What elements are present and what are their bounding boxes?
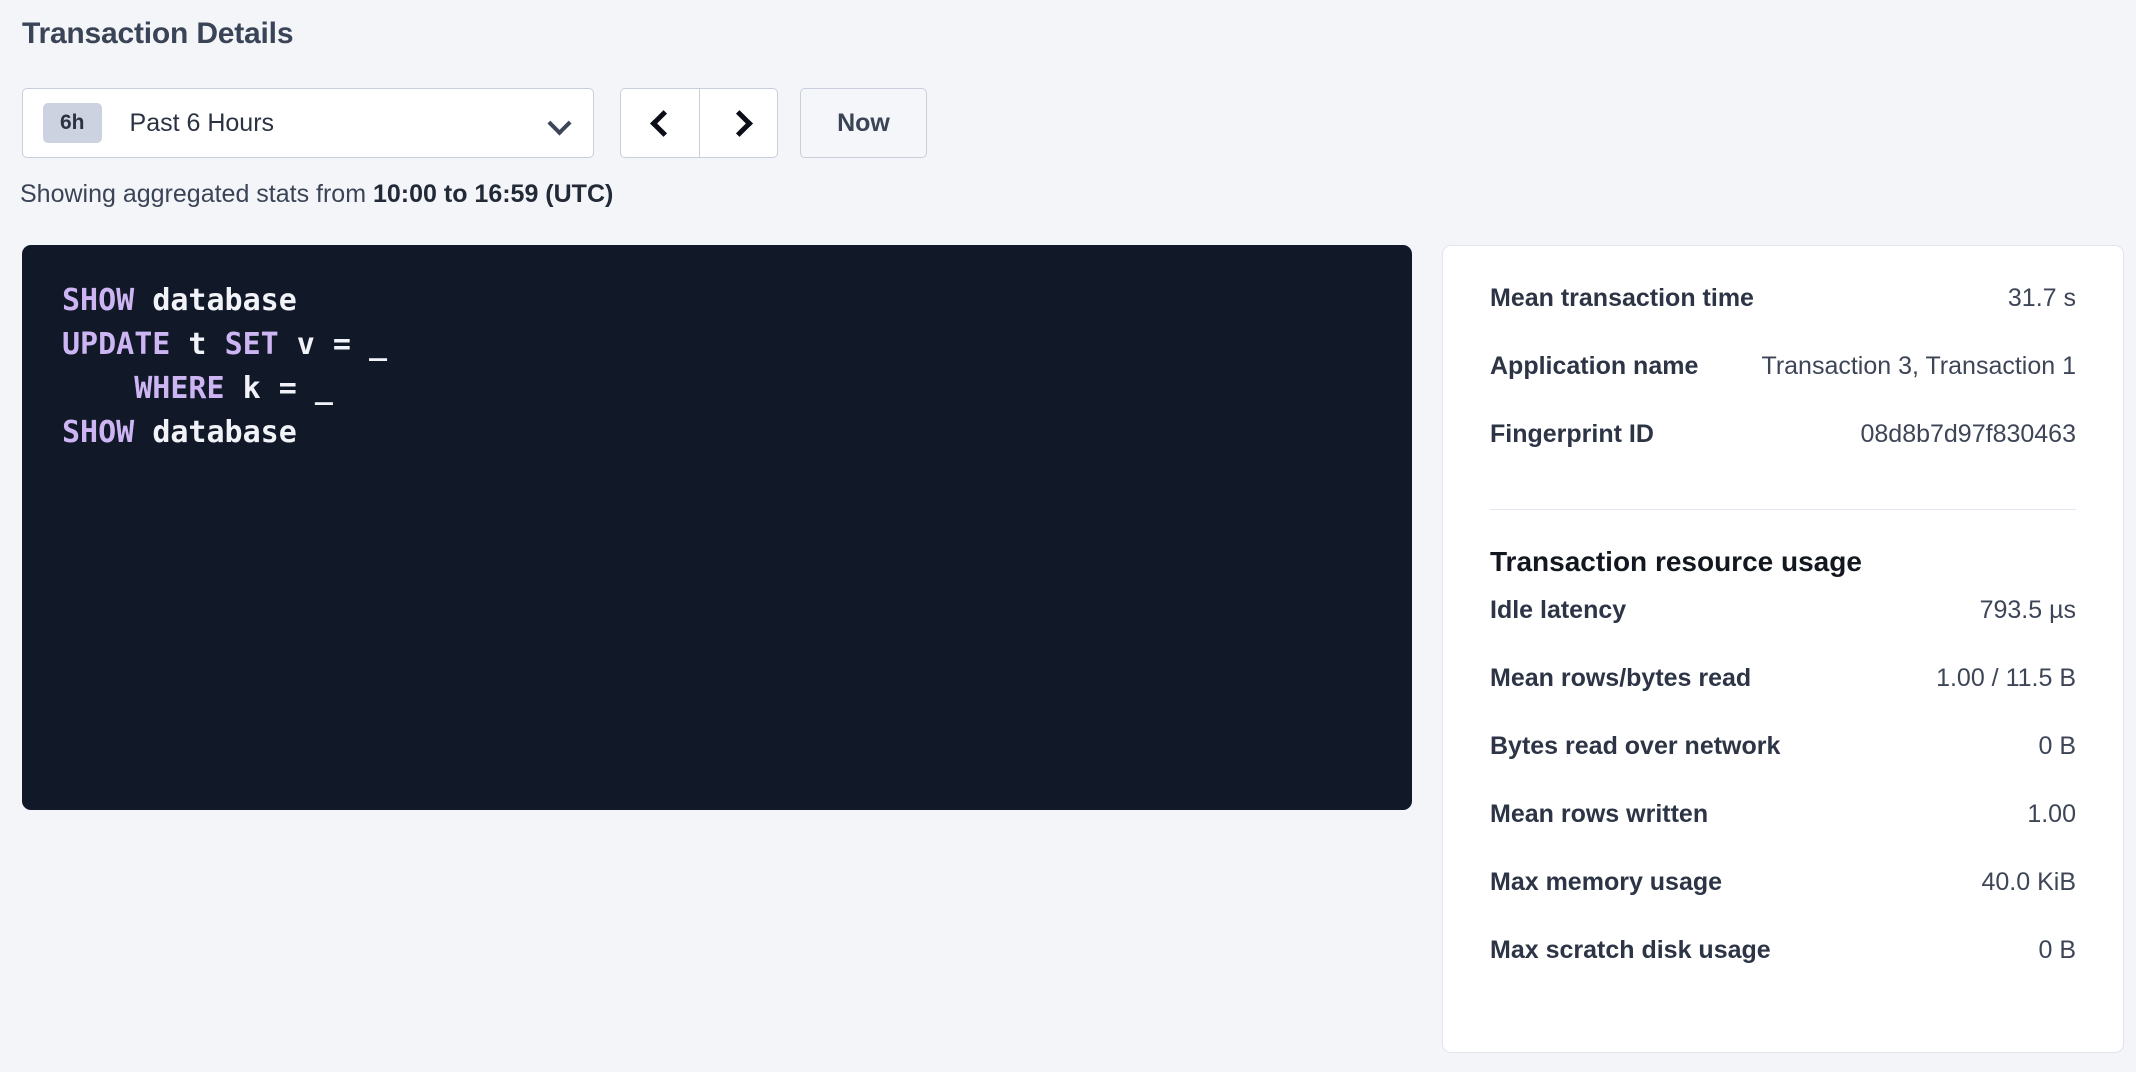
time-step-group (620, 88, 778, 158)
summary-statistics-list: Mean transaction time31.7 sApplication n… (1490, 284, 2076, 488)
detail-value: 40.0 KiB (1981, 868, 2076, 897)
detail-value: 31.7 s (2008, 284, 2076, 313)
time-range-select[interactable]: 6h Past 6 Hours (22, 88, 594, 158)
resource-usage-list: Idle latency793.5 µsMean rows/bytes read… (1490, 596, 2076, 1004)
sql-identifier: database (152, 415, 297, 450)
sql-identifier (134, 283, 152, 318)
summary-row: Mean transaction time31.7 s (1490, 284, 2076, 352)
chevron-down-icon (549, 112, 571, 134)
transaction-details-page: Transaction Details 6h Past 6 Hours Now … (0, 0, 2136, 1072)
sql-identifier (134, 415, 152, 450)
detail-label: Max memory usage (1490, 868, 1722, 897)
detail-value: Transaction 3, Transaction 1 (1761, 352, 2076, 381)
transaction-details-card: Mean transaction time31.7 sApplication n… (1442, 245, 2124, 1053)
detail-label: Bytes read over network (1490, 732, 1780, 761)
aggregation-range-prefix: Showing aggregated stats from (20, 180, 373, 208)
page-title: Transaction Details (22, 14, 293, 54)
sql-identifier: k = _ (225, 371, 333, 406)
next-period-button[interactable] (699, 88, 778, 158)
resource-row: Bytes read over network0 B (1490, 732, 2076, 800)
sql-line: SHOW database (62, 279, 1372, 323)
sql-identifier: v = _ (279, 327, 387, 362)
time-range-badge: 6h (43, 103, 102, 143)
sql-line: WHERE k = _ (62, 367, 1372, 411)
sql-keyword: SHOW (62, 283, 134, 318)
resource-row: Mean rows/bytes read1.00 / 11.5 B (1490, 664, 2076, 732)
aggregation-range-text: Showing aggregated stats from 10:00 to 1… (20, 178, 613, 210)
detail-value: 0 B (2038, 732, 2076, 761)
sql-statement-text: SHOW databaseUPDATE t SET v = _ WHERE k … (62, 279, 1372, 455)
resource-row: Mean rows written1.00 (1490, 800, 2076, 868)
summary-row: Application nameTransaction 3, Transacti… (1490, 352, 2076, 420)
detail-label: Max scratch disk usage (1490, 936, 1771, 965)
card-divider (1490, 509, 2076, 510)
sql-line: SHOW database (62, 411, 1372, 455)
resource-row: Max scratch disk usage0 B (1490, 936, 2076, 1004)
detail-label: Mean rows/bytes read (1490, 664, 1751, 693)
aggregation-range-value: 10:00 to 16:59 (UTC) (373, 180, 613, 208)
now-button[interactable]: Now (800, 88, 927, 158)
detail-label: Fingerprint ID (1490, 420, 1654, 449)
detail-value: 08d8b7d97f830463 (1860, 420, 2076, 449)
summary-row: Fingerprint ID08d8b7d97f830463 (1490, 420, 2076, 488)
detail-label: Mean rows written (1490, 800, 1708, 829)
sql-keyword: UPDATE (62, 327, 170, 362)
detail-value: 1.00 / 11.5 B (1936, 664, 2076, 693)
sql-line: UPDATE t SET v = _ (62, 323, 1372, 367)
detail-label: Mean transaction time (1490, 284, 1754, 313)
resource-row: Idle latency793.5 µs (1490, 596, 2076, 664)
chevron-left-icon (650, 113, 670, 133)
chevron-right-icon (729, 113, 749, 133)
detail-label: Application name (1490, 352, 1698, 381)
time-range-label: Past 6 Hours (130, 108, 549, 138)
sql-identifier: t (170, 327, 224, 362)
sql-keyword: WHERE (134, 371, 224, 406)
detail-value: 1.00 (2027, 800, 2076, 829)
detail-label: Idle latency (1490, 596, 1626, 625)
detail-value: 0 B (2038, 936, 2076, 965)
previous-period-button[interactable] (620, 88, 699, 158)
sql-statement-panel[interactable]: SHOW databaseUPDATE t SET v = _ WHERE k … (22, 245, 1412, 810)
sql-identifier (62, 371, 134, 406)
time-range-toolbar: 6h Past 6 Hours Now (22, 88, 927, 158)
resource-usage-title: Transaction resource usage (1490, 544, 2076, 580)
sql-identifier: database (152, 283, 297, 318)
sql-keyword: SHOW (62, 415, 134, 450)
sql-keyword: SET (225, 327, 279, 362)
detail-value: 793.5 µs (1980, 596, 2076, 625)
resource-row: Max memory usage40.0 KiB (1490, 868, 2076, 936)
